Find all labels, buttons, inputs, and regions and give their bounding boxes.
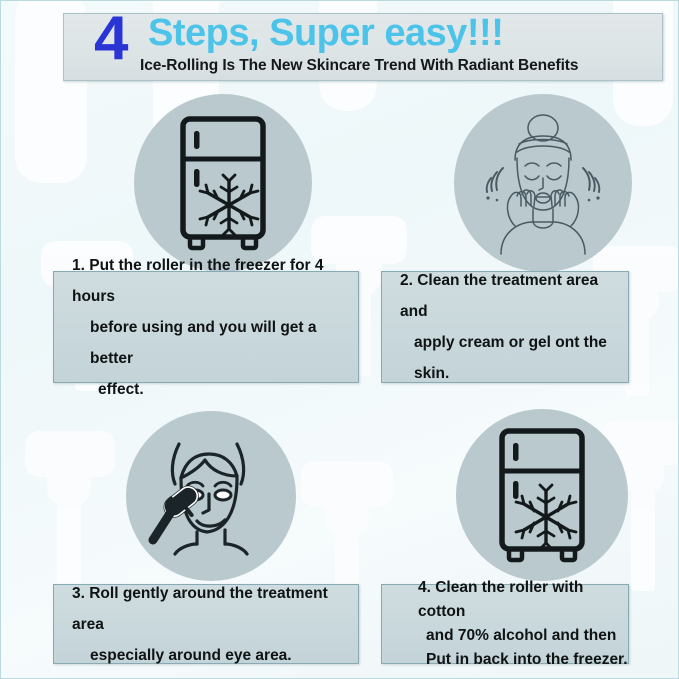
step-4-line-1: 4. Clean the roller with cotton: [396, 576, 628, 624]
step-2-line-1: 2. Clean the treatment area and: [396, 265, 628, 327]
refrigerator-freezer-icon: [482, 425, 602, 565]
subheadline-text: Ice-Rolling Is The New Skincare Trend Wi…: [140, 57, 578, 75]
step-1-icon-circle: [134, 94, 312, 272]
step-2-text-box: 2. Clean the treatment area and apply cr…: [381, 271, 629, 383]
step-1-line-2: before using and you will get a better: [68, 312, 358, 374]
watermark-ice-roller-8: [25, 431, 115, 591]
step-3-text-box: 3. Roll gently around the treatment area…: [53, 584, 359, 664]
step-2-line-2: apply cream or gel ont the skin.: [396, 327, 628, 389]
woman-cleansing-face-icon: [473, 108, 613, 258]
step-2-icon-circle: [454, 94, 632, 272]
step-4-line-3: Put in back into the freezer.: [396, 648, 628, 672]
step-4-icon-circle: [456, 409, 628, 581]
step-3-icon-circle: [126, 411, 296, 581]
refrigerator-freezer-icon: [163, 113, 283, 253]
step-4-line-2: and 70% alcohol and then: [396, 624, 628, 648]
step-1-line-1: 1. Put the roller in the freezer for 4 h…: [68, 250, 358, 312]
face-ice-roller-icon: [141, 426, 281, 566]
step-3-line-2: especially around eye area.: [68, 640, 358, 671]
step-4-text-box: 4. Clean the roller with cotton and 70% …: [381, 584, 629, 664]
step-1-line-3: effect.: [68, 374, 358, 405]
step-count-number: 4: [94, 8, 127, 70]
step-1-text-box: 1. Put the roller in the freezer for 4 h…: [53, 271, 359, 383]
infographic-poster: 4 Steps, Super easy!!! Ice-Rolling Is Th…: [0, 0, 679, 679]
header-banner: 4 Steps, Super easy!!! Ice-Rolling Is Th…: [63, 13, 663, 81]
step-3-line-1: 3. Roll gently around the treatment area: [68, 578, 358, 640]
headline-text: Steps, Super easy!!!: [148, 14, 503, 54]
